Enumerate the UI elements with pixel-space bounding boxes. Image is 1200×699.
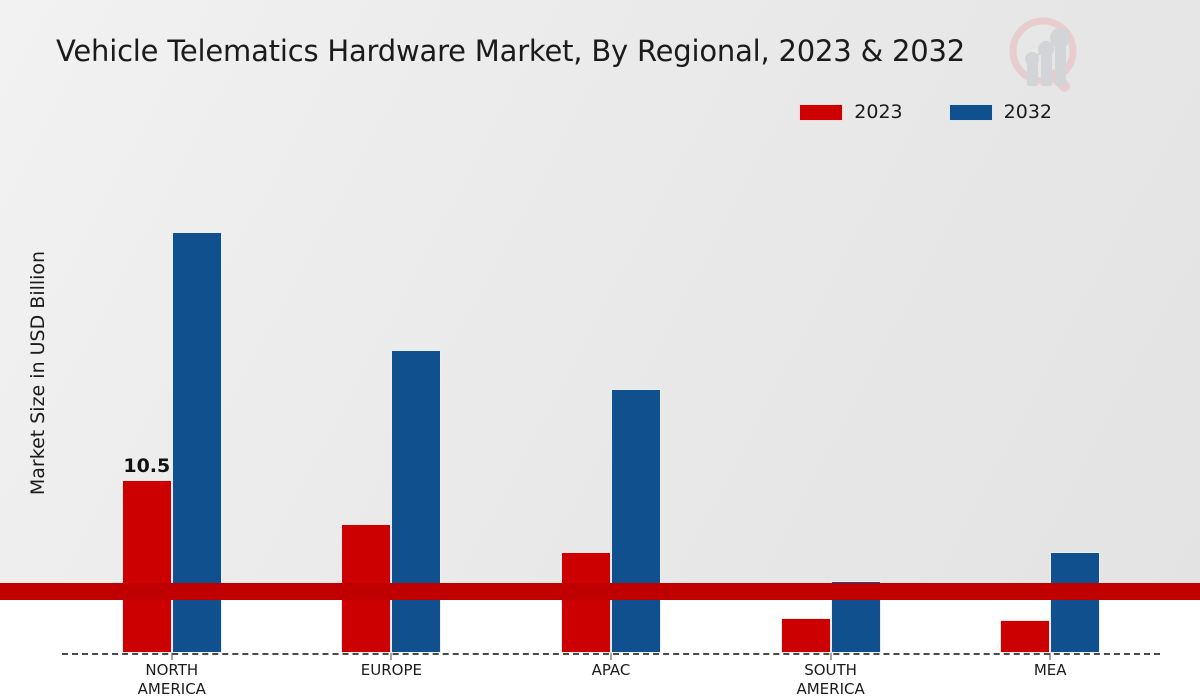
x-axis-category-label: SOUTH AMERICA <box>796 661 864 699</box>
bar-2023[interactable]: 10.5 <box>122 480 172 653</box>
bar-group: MEA <box>940 140 1160 653</box>
bar-2032[interactable] <box>1050 552 1100 653</box>
bar-2032[interactable] <box>611 389 661 653</box>
bar-group: EUROPE <box>282 140 502 653</box>
x-axis-category-label: NORTH AMERICA <box>138 661 206 699</box>
bar-2023[interactable] <box>1000 620 1050 653</box>
x-axis-baseline <box>62 653 1160 655</box>
chart-legend: 2023 2032 <box>799 103 1052 122</box>
y-axis-title: Market Size in USD Billion <box>27 193 49 553</box>
legend-swatch-2032 <box>949 104 993 121</box>
bar-group: SOUTH AMERICA <box>721 140 941 653</box>
legend-item-2023[interactable]: 2023 <box>799 103 902 122</box>
legend-label-2032: 2032 <box>1004 103 1052 122</box>
bar-2032[interactable] <box>391 350 441 653</box>
legend-swatch-2023 <box>799 104 843 121</box>
plot-area: 10.5NORTH AMERICAEUROPEAPACSOUTH AMERICA… <box>62 140 1160 513</box>
chart-figure: Vehicle Telematics Hardware Market, By R… <box>0 0 1200 600</box>
bar-pair <box>501 140 721 653</box>
bar-value-label: 10.5 <box>123 455 170 477</box>
bar-pair: 10.5 <box>62 140 282 653</box>
bar-pair <box>721 140 941 653</box>
x-axis-category-label: EUROPE <box>361 661 422 680</box>
bar-group: APAC <box>501 140 721 653</box>
bar-2023[interactable] <box>561 552 611 653</box>
bar-groups: 10.5NORTH AMERICAEUROPEAPACSOUTH AMERICA… <box>62 140 1160 653</box>
bar-2023[interactable] <box>781 618 831 653</box>
legend-item-2032[interactable]: 2032 <box>949 103 1052 122</box>
bar-pair <box>282 140 502 653</box>
bar-pair <box>940 140 1160 653</box>
legend-label-2023: 2023 <box>854 103 902 122</box>
bar-group: 10.5NORTH AMERICA <box>62 140 282 653</box>
x-axis-category-label: APAC <box>592 661 631 680</box>
magnifier-bar-chart-logo-icon <box>1002 10 1094 102</box>
chart-title: Vehicle Telematics Hardware Market, By R… <box>56 30 965 72</box>
x-axis-category-label: MEA <box>1034 661 1067 680</box>
footer-accent-band <box>0 583 1200 600</box>
